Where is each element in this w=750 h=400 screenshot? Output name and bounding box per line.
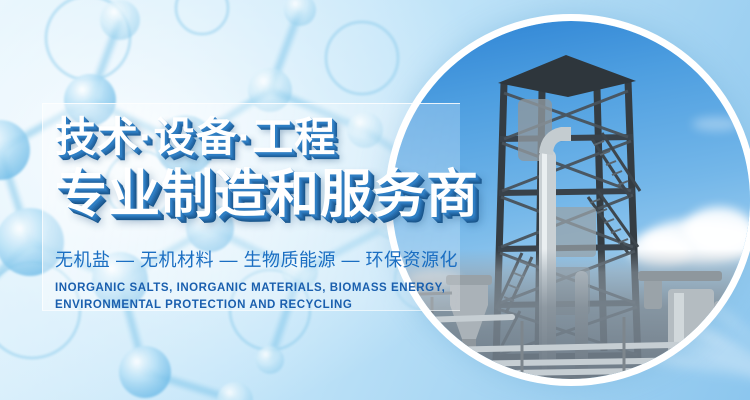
headline-line-2: 专业制造和服务商 — [55, 164, 485, 226]
banner-content: 技术·设备·工程 专业制造和服务商 无机盐 — 无机材料 — 生物质能源 — 环… — [55, 112, 485, 314]
subtitle-english: INORGANIC SALTS, INORGANIC MATERIALS, BI… — [55, 280, 455, 314]
subtitle-chinese: 无机盐 — 无机材料 — 生物质能源 — 环保资源化 — [55, 248, 485, 272]
promo-banner: 技术·设备·工程 专业制造和服务商 无机盐 — 无机材料 — 生物质能源 — 环… — [0, 0, 750, 400]
headline-line-1: 技术·设备·工程 — [55, 112, 485, 162]
